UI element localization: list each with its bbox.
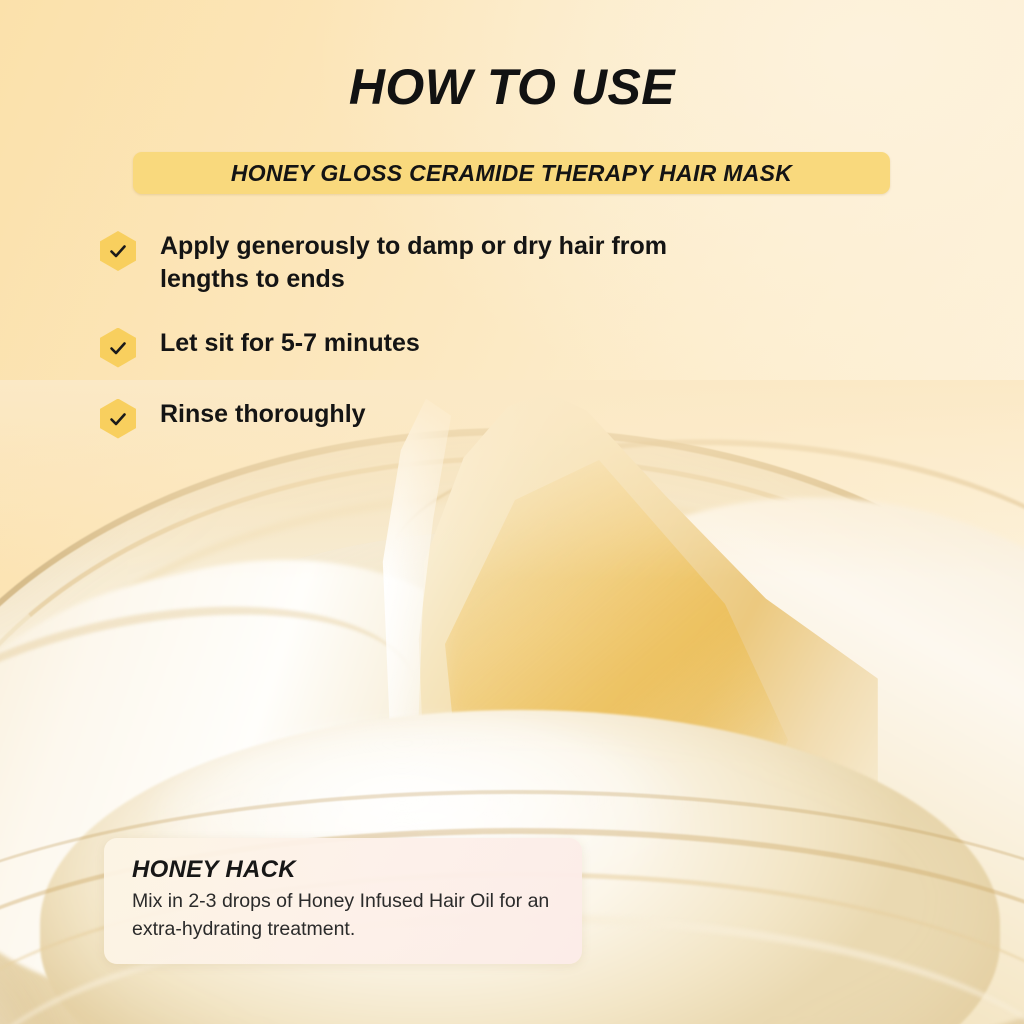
honey-hack-body: Mix in 2-3 drops of Honey Infused Hair O… (132, 888, 558, 943)
check-hexagon-icon (100, 231, 136, 271)
step-3-icon-wrap (100, 399, 136, 439)
page-title: HOW TO USE (0, 62, 1024, 112)
step-2-label: Let sit for 5-7 minutes (160, 327, 420, 360)
step-3-label: Rinse thoroughly (160, 398, 366, 431)
product-name-badge: HONEY GLOSS CERAMIDE THERAPY HAIR MASK (133, 152, 890, 194)
how-to-use-infographic: HOW TO USE HONEY GLOSS CERAMIDE THERAPY … (0, 0, 1024, 1024)
check-hexagon-icon (100, 399, 136, 439)
product-name-badge-label: HONEY GLOSS CERAMIDE THERAPY HAIR MASK (231, 160, 792, 187)
list-item: Let sit for 5-7 minutes (100, 327, 800, 368)
check-hexagon-icon (100, 328, 136, 368)
honey-hack-card: HONEY HACK Mix in 2-3 drops of Honey Inf… (104, 838, 582, 964)
honey-hack-title: HONEY HACK (132, 856, 558, 884)
step-2-icon-wrap (100, 328, 136, 368)
step-1-icon-wrap (100, 231, 136, 271)
list-item: Rinse thoroughly (100, 398, 800, 439)
list-item: Apply generously to damp or dry hair fro… (100, 230, 800, 297)
step-1-label: Apply generously to damp or dry hair fro… (160, 230, 760, 297)
usage-steps-list: Apply generously to damp or dry hair fro… (100, 230, 800, 469)
